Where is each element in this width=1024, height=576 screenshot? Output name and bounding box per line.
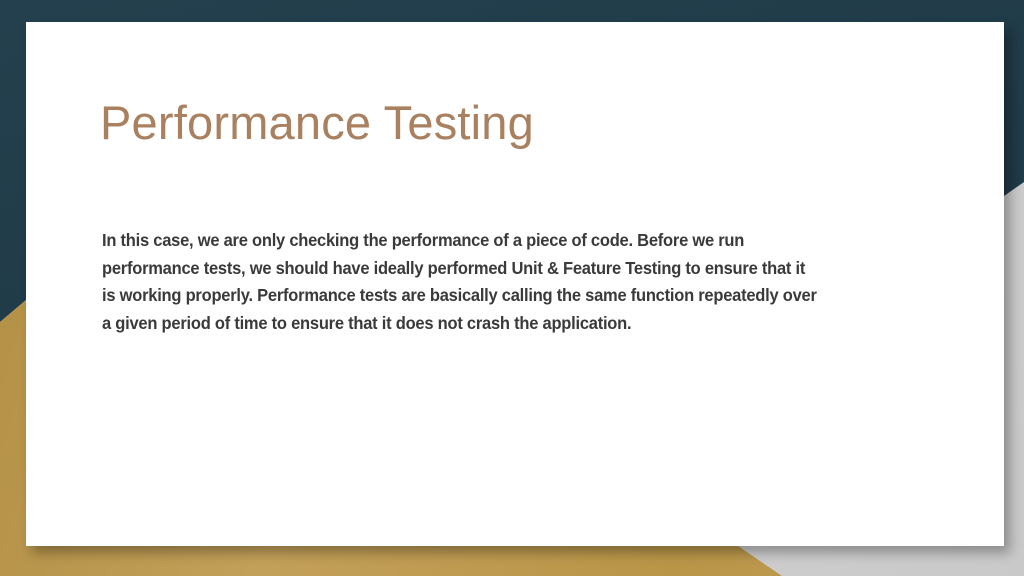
body-text-line: a given period of time to ensure that it… [102,310,889,338]
content-card: Performance Testing In this case, we are… [26,22,1004,546]
body-text-line: is working properly. Performance tests a… [102,282,889,310]
body-text-line: performance tests, we should have ideall… [102,255,889,283]
presentation-slide: Performance Testing In this case, we are… [0,0,1024,576]
body-text-block: In this case, we are only checking the p… [102,227,926,337]
page-title: Performance Testing [100,97,940,150]
body-text-line: In this case, we are only checking the p… [102,227,889,255]
